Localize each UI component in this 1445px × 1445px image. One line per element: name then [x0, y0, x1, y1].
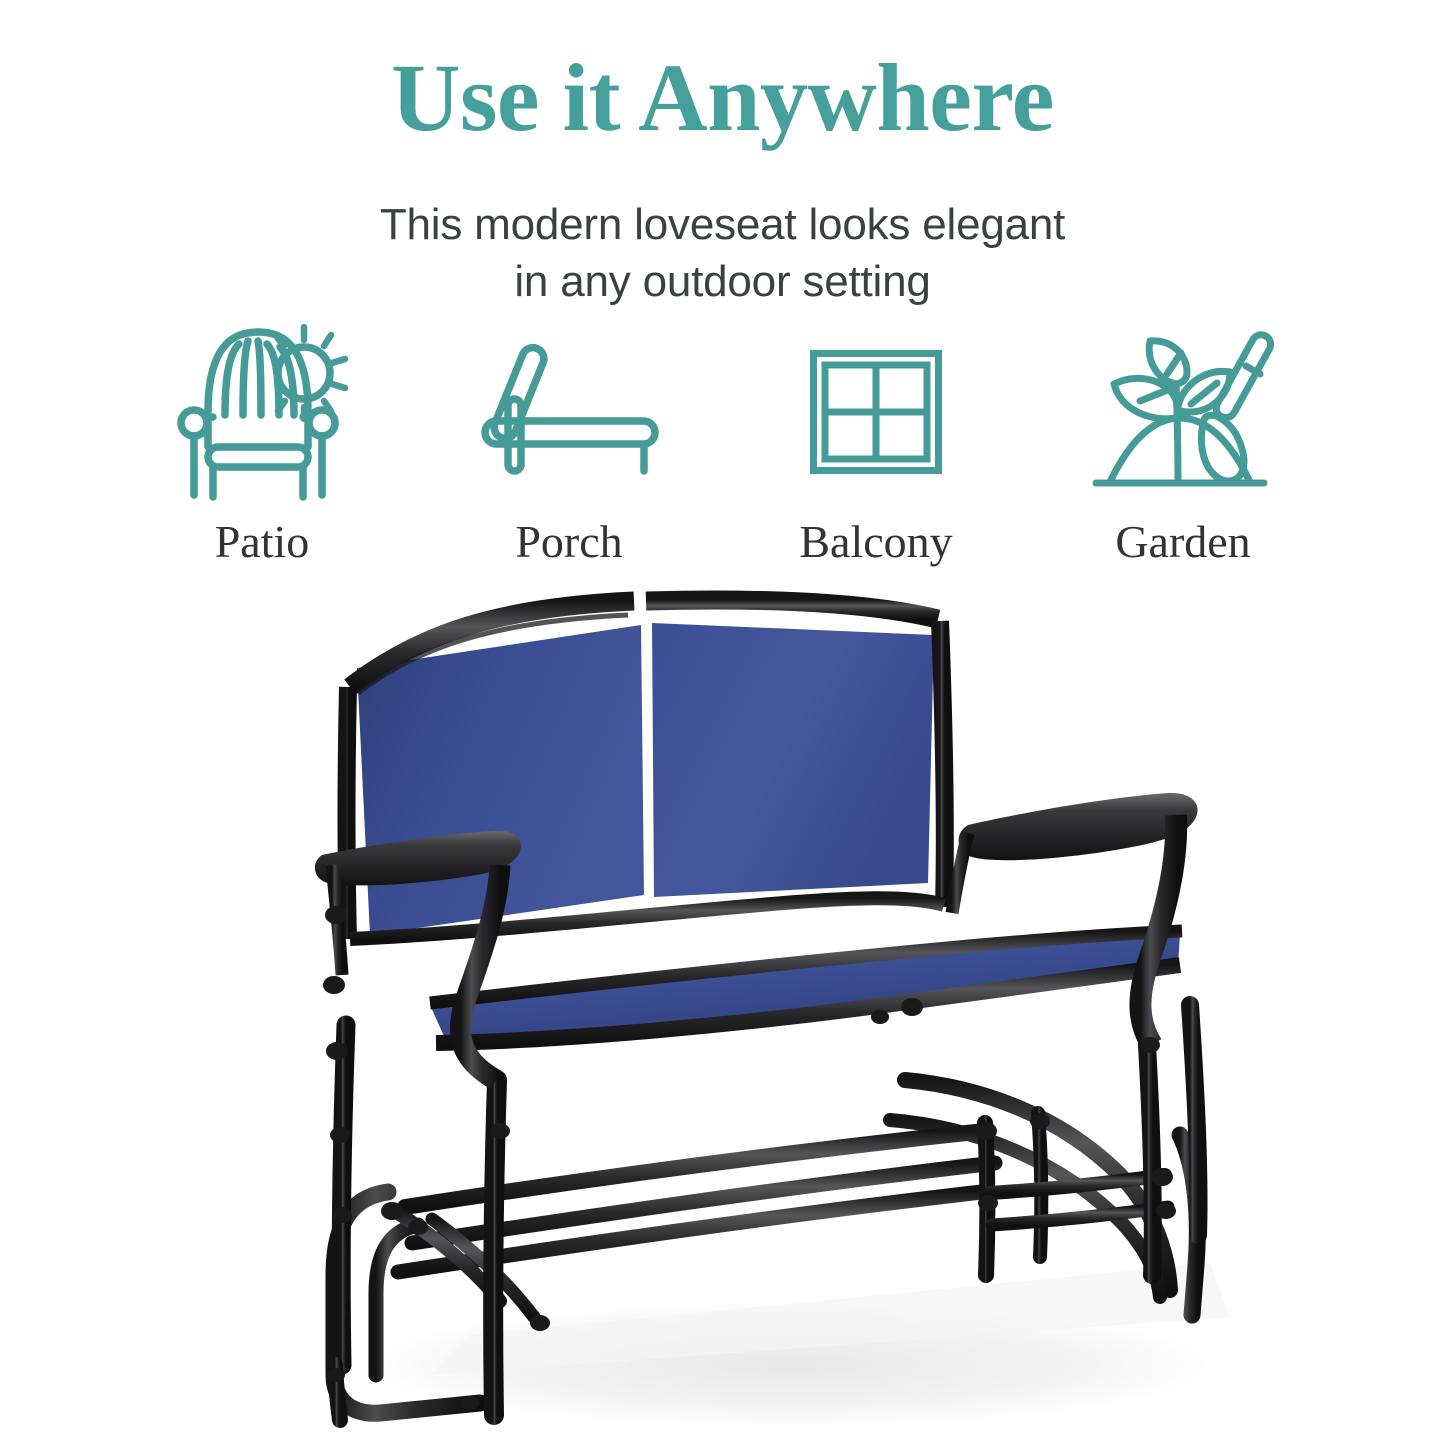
- use-case-label: Garden: [1115, 519, 1250, 565]
- chaise-lounge-chair-icon: [469, 314, 669, 509]
- product-illustration: [0, 575, 1445, 1445]
- backrest: [347, 600, 945, 939]
- adirondack-chair-with-sun-icon: [162, 314, 362, 509]
- use-case-row: Patio Porch: [112, 300, 1333, 565]
- backrest-arch-right: [646, 600, 938, 619]
- subtitle-line-1: This modern loveseat looks elegant: [0, 196, 1445, 253]
- use-case-patio: Patio: [112, 300, 412, 565]
- backrest-left-upright: [347, 687, 349, 939]
- leg-rear-right: [1190, 1005, 1199, 1235]
- four-pane-window-icon: [776, 314, 976, 509]
- plant-with-shovel-icon: [1083, 314, 1283, 509]
- armrest-pad-right: [959, 793, 1198, 860]
- use-case-label: Balcony: [799, 519, 952, 565]
- leg-rear-left: [341, 1025, 346, 1365]
- backrest-right-upright: [940, 621, 945, 907]
- seat-sling: [430, 931, 1182, 1045]
- use-case-label: Patio: [215, 519, 310, 565]
- backrest-panel-right: [652, 623, 934, 897]
- use-case-garden: Garden: [1033, 300, 1333, 565]
- page-subtitle: This modern loveseat looks elegant in an…: [0, 196, 1445, 310]
- use-case-porch: Porch: [419, 300, 719, 565]
- leg-front-right: [1147, 1045, 1153, 1275]
- page-title: Use it Anywhere: [0, 48, 1445, 148]
- use-case-label: Porch: [515, 519, 622, 565]
- marketing-infographic-page: Use it Anywhere This modern loveseat loo…: [0, 0, 1445, 1445]
- use-case-balcony: Balcony: [726, 300, 1026, 565]
- product-image-outdoor-glider-loveseat: [0, 575, 1445, 1445]
